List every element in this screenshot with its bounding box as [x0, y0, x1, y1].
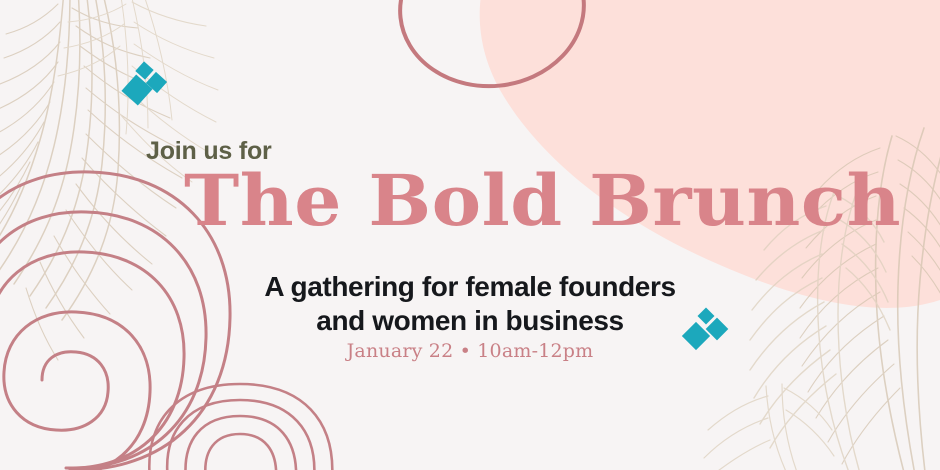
poster-text-block: Join us for The Bold Brunch A gathering …	[0, 0, 940, 470]
event-poster: Join us for The Bold Brunch A gathering …	[0, 0, 940, 470]
subtitle-line-1: A gathering for female founders	[0, 270, 940, 304]
event-datetime: January 22 • 10am-12pm	[0, 340, 940, 362]
subtitle-line-2: and women in business	[0, 304, 940, 338]
page-title: The Bold Brunch	[184, 163, 901, 239]
subtitle-block: A gathering for female founders and wome…	[0, 270, 940, 338]
